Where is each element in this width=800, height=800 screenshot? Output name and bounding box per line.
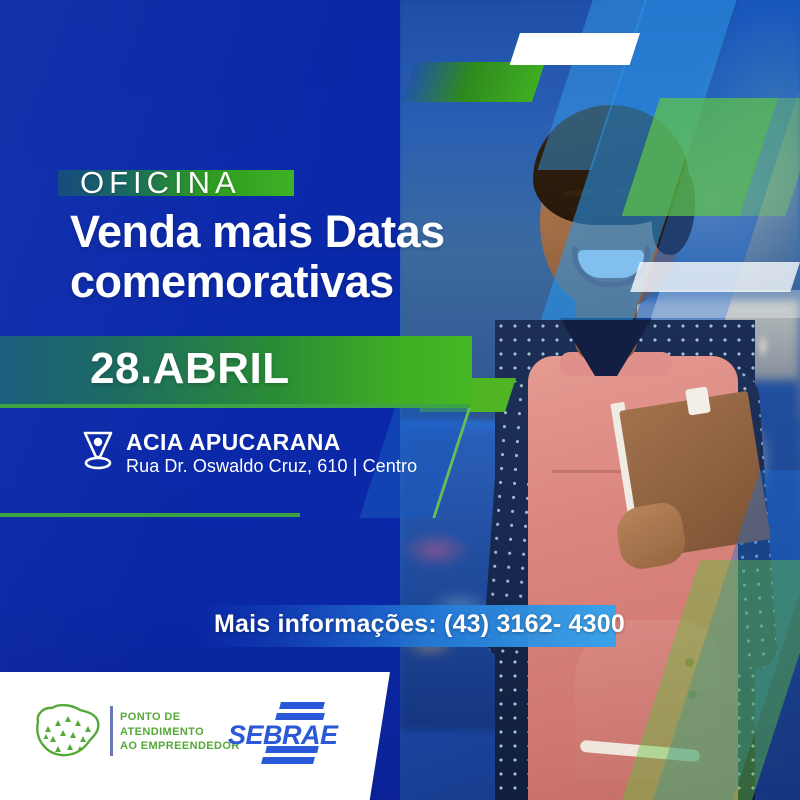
- sebrae-bar-1: [279, 702, 325, 709]
- program-line-1: PONTO DE: [120, 710, 240, 725]
- headline-line-2: comemorativas: [70, 257, 490, 307]
- sebrae-bar-2: [275, 713, 325, 720]
- event-date: 28.ABRIL: [90, 344, 290, 394]
- kicker-label: OFICINA: [58, 162, 241, 204]
- sebrae-logo: SEBRAE: [228, 702, 336, 764]
- divider-green-lower: [0, 513, 300, 517]
- kicker-group: OFICINA: [58, 162, 241, 204]
- promo-poster: OFICINA Venda mais Datas comemorativas 2…: [0, 0, 800, 800]
- photo-folder-tab: [685, 386, 711, 415]
- program-label: PONTO DE ATENDIMENTO AO EMPREENDEDOR: [120, 710, 240, 754]
- location-pin-icon: [78, 427, 118, 473]
- venue-address: Rua Dr. Oswaldo Cruz, 610 | Centro: [126, 456, 417, 477]
- parana-map-icon: [32, 700, 104, 762]
- divider-green-upper: [0, 404, 470, 408]
- page-title: Venda mais Datas comemorativas: [70, 207, 490, 308]
- headline-line-1: Venda mais Datas: [70, 207, 490, 257]
- decor-panel-white-band-2: [651, 290, 800, 318]
- decor-panel-white-bar: [510, 33, 640, 65]
- decor-panel-green-bar: [402, 62, 545, 102]
- decor-panel-white-band: [630, 262, 800, 292]
- program-line-2: ATENDIMENTO: [120, 725, 240, 740]
- footer-logo-divider: [110, 706, 113, 756]
- venue-name: ACIA APUCARANA: [126, 429, 341, 456]
- contact-info: Mais informações: (43) 3162- 4300: [214, 610, 625, 639]
- program-line-3: AO EMPREENDEDOR: [120, 739, 240, 754]
- sebrae-bar-3: [265, 746, 319, 753]
- sebrae-bar-4: [261, 757, 315, 764]
